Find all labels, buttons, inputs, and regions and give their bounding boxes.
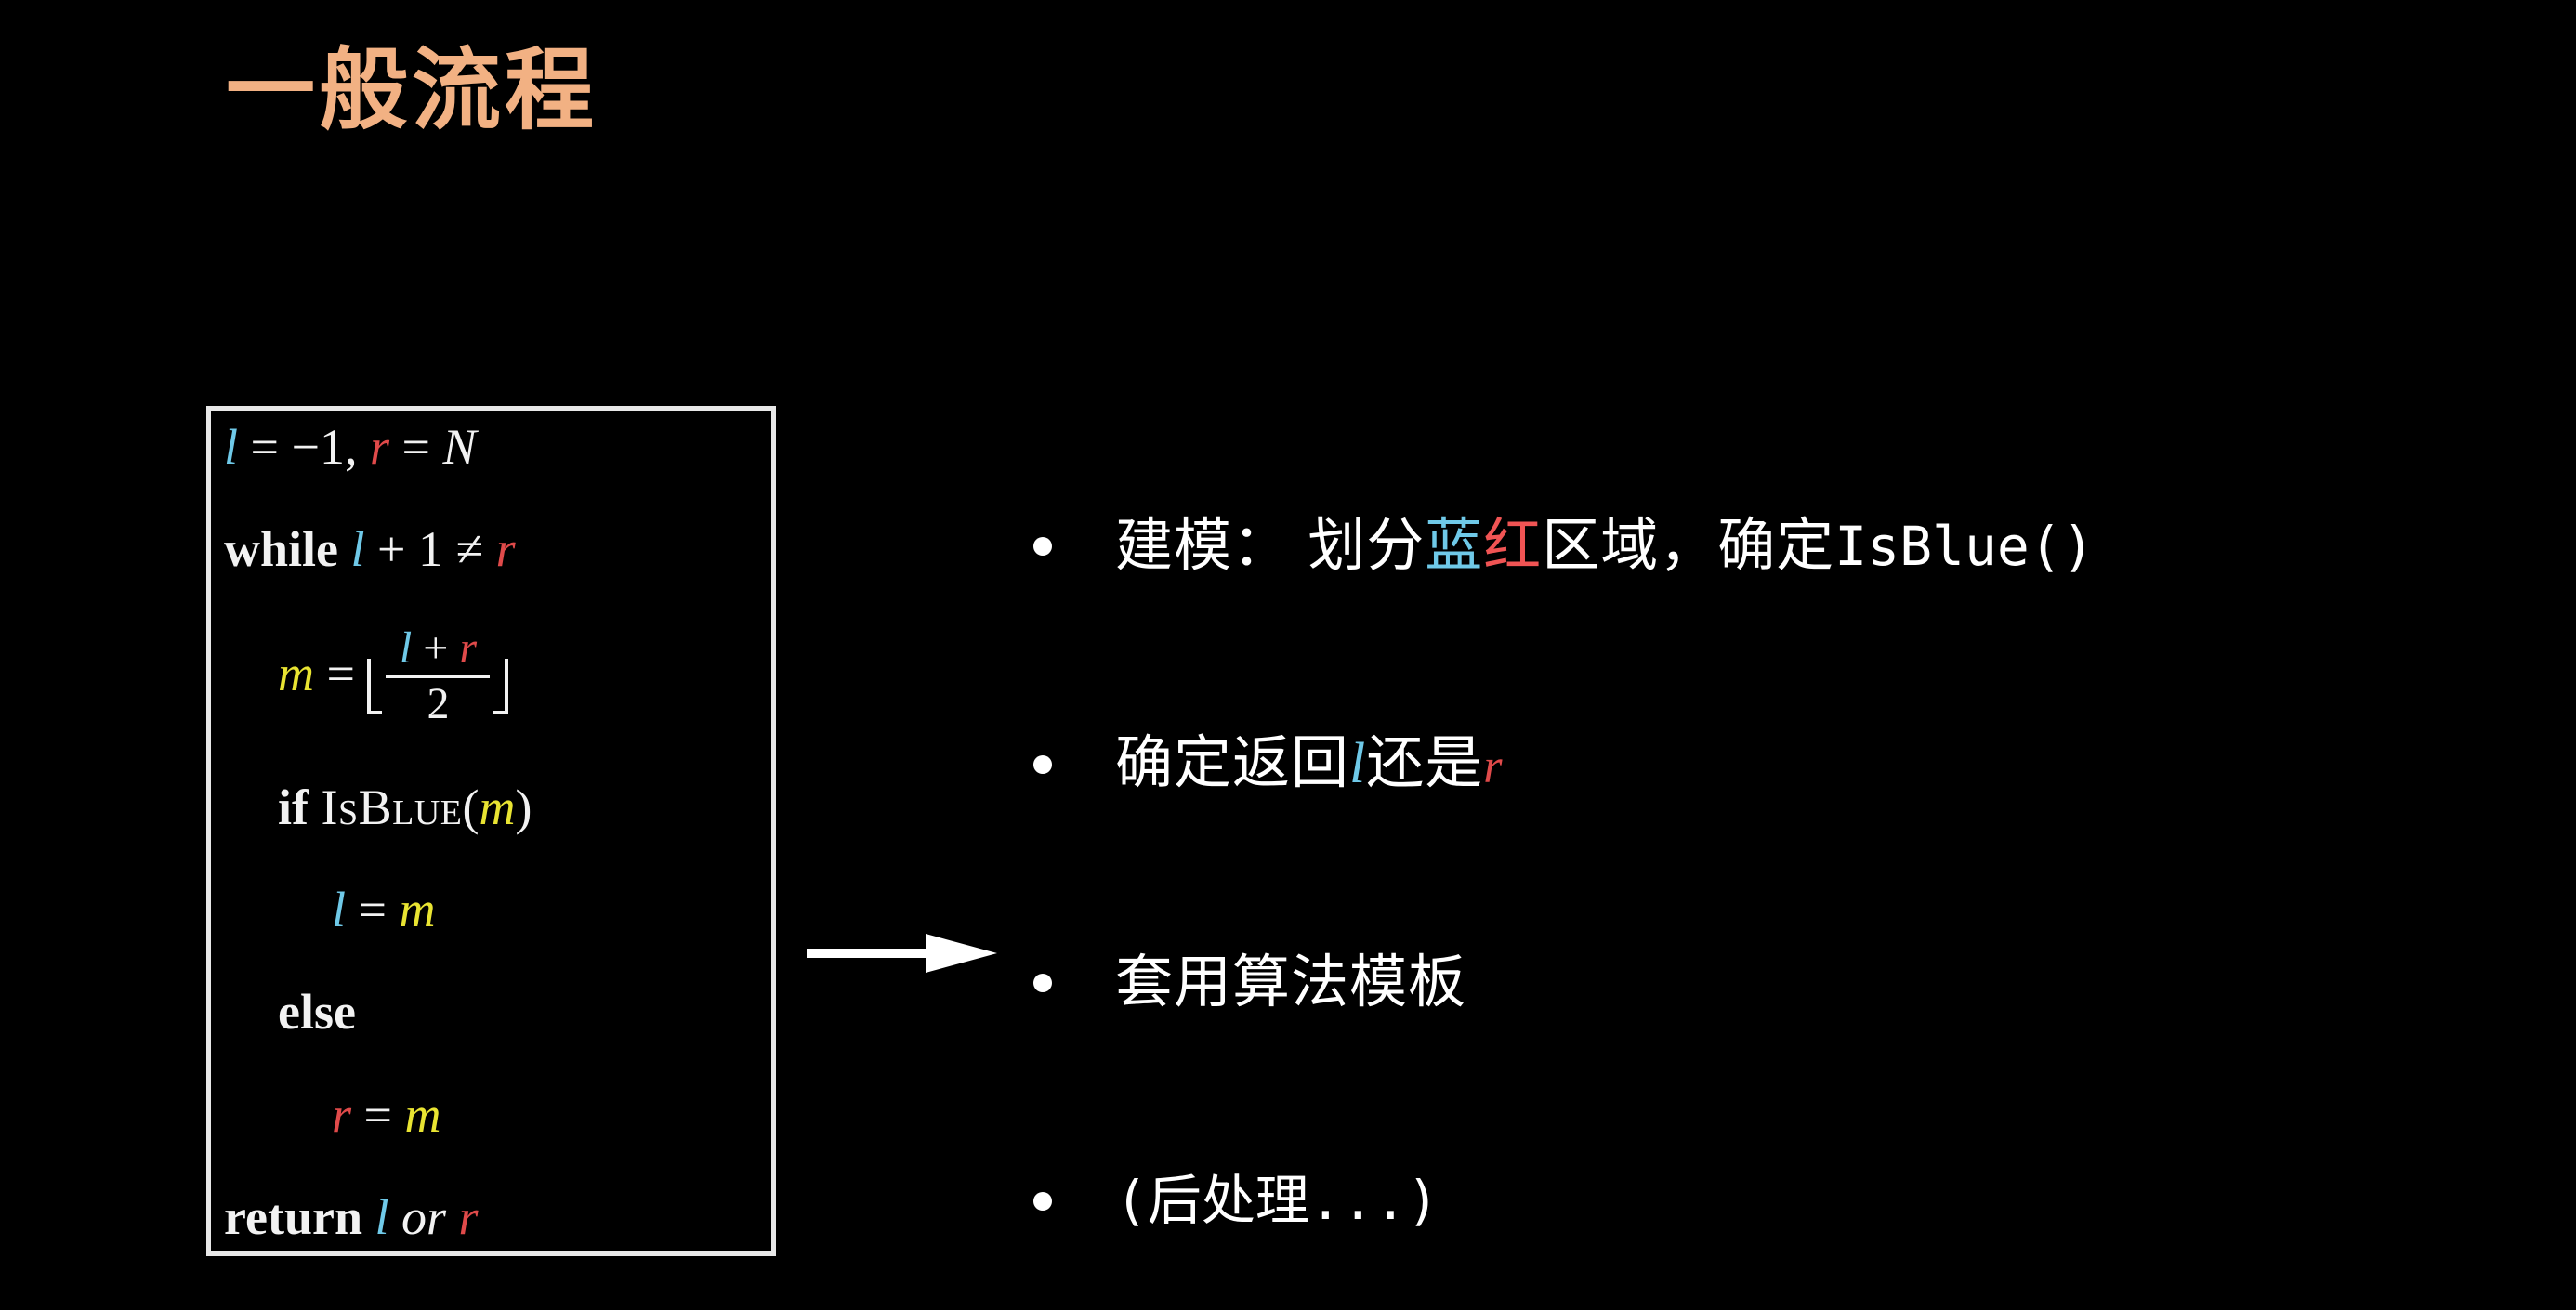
bullet-seg-var-l: l: [1349, 732, 1366, 795]
list-item: (后处理...): [1033, 1092, 2520, 1310]
floor-right-bracket-icon: [493, 638, 508, 714]
operator-or: or: [401, 1189, 446, 1245]
operator-equals: =: [314, 645, 367, 701]
paren-close: ): [515, 779, 532, 835]
operator-equals: =: [389, 419, 442, 475]
code-line-mid: m = l + r2: [224, 627, 758, 730]
code-line-else: else: [224, 987, 758, 1037]
var-l: l: [400, 623, 412, 673]
paren-open: (: [463, 779, 480, 835]
list-item: 建模： 划分蓝红区域，确定IsBlue(): [1033, 437, 2520, 655]
operator-equals: =: [351, 1087, 404, 1143]
code-line-if: if IsBlue(m): [224, 782, 758, 832]
operator-plus-one-neq: + 1 ≠: [365, 521, 496, 577]
space: [357, 419, 370, 475]
bullet-seg-code: IsBlue(): [1834, 515, 2094, 578]
keyword-return: return: [224, 1189, 362, 1245]
var-l: l: [224, 419, 238, 475]
page-title: 一般流程: [226, 35, 598, 147]
keyword-while: while: [224, 521, 338, 577]
keyword-else: else: [278, 984, 356, 1040]
fraction-denominator: 2: [419, 681, 456, 727]
var-m: m: [479, 779, 515, 835]
slide-root: 一般流程 l = −1, r = N while l + 1 ≠ r m = l…: [0, 0, 2576, 1303]
bullet-text-post-process: (后处理...): [1115, 1170, 1439, 1232]
list-item: 确定返回l还是r: [1033, 655, 2520, 873]
arrow-right-icon: [807, 932, 997, 975]
bullet-text-return-choice: 确定返回l还是r: [1115, 730, 1504, 797]
value-minus-one: −1,: [291, 419, 357, 475]
keyword-if: if: [278, 779, 309, 835]
operator-equals: =: [238, 419, 291, 475]
bullet-seg-red: 红: [1483, 514, 1542, 578]
pseudocode-lines: l = −1, r = N while l + 1 ≠ r m = l + r2…: [211, 411, 771, 1251]
fraction-bar: [386, 675, 490, 678]
bullet-dot-icon: [1033, 1192, 1052, 1211]
space: [309, 779, 322, 835]
operator-plus: +: [412, 623, 459, 673]
code-line-while: while l + 1 ≠ r: [224, 524, 758, 574]
bullet-seg-blue: 蓝: [1425, 514, 1483, 578]
var-r: r: [459, 623, 477, 673]
bullet-dot-icon: [1033, 755, 1052, 774]
operator-equals: =: [346, 882, 399, 937]
code-line-assign-r: r = m: [224, 1090, 758, 1140]
bullet-seg: 建模： 划分: [1115, 514, 1425, 578]
list-item: 套用算法模板: [1033, 873, 2520, 1092]
bullet-text-modeling: 建模： 划分蓝红区域，确定IsBlue(): [1115, 513, 2095, 579]
var-m: m: [278, 645, 314, 701]
fraction-numerator: l + r: [392, 625, 484, 672]
code-line-assign-l: l = m: [224, 884, 758, 935]
floor-fraction: l + r2: [367, 625, 508, 728]
floor-left-bracket-icon: [367, 638, 382, 714]
code-line-return: return l or r: [224, 1192, 758, 1242]
var-r: r: [332, 1087, 351, 1143]
space: [362, 1189, 375, 1245]
space: [446, 1189, 459, 1245]
bullet-seg-var-r: r: [1483, 740, 1503, 793]
var-r: r: [496, 521, 516, 577]
var-r: r: [370, 419, 389, 475]
pseudocode-box: l = −1, r = N while l + 1 ≠ r m = l + r2…: [206, 406, 776, 1256]
call-isblue: IsBlue: [322, 779, 463, 835]
var-m: m: [399, 882, 435, 937]
var-l: l: [375, 1189, 388, 1245]
var-l: l: [351, 521, 365, 577]
bullet-dot-icon: [1033, 537, 1052, 556]
var-m: m: [404, 1087, 440, 1143]
space: [338, 521, 351, 577]
bullet-list: 建模： 划分蓝红区域，确定IsBlue() 确定返回l还是r 套用算法模板 (后…: [1033, 437, 2520, 1310]
space: [389, 1189, 402, 1245]
bullet-text-apply-template: 套用算法模板: [1115, 950, 1466, 1015]
bullet-seg: 还是: [1366, 731, 1483, 795]
var-n: N: [442, 419, 476, 475]
fraction: l + r2: [386, 625, 490, 728]
code-line-init: l = −1, r = N: [224, 422, 758, 472]
var-r: r: [459, 1189, 479, 1245]
bullet-seg: 区域，确定: [1542, 514, 1834, 578]
var-l: l: [332, 882, 346, 937]
bullet-dot-icon: [1033, 974, 1052, 992]
bullet-seg: 确定返回: [1115, 731, 1349, 795]
